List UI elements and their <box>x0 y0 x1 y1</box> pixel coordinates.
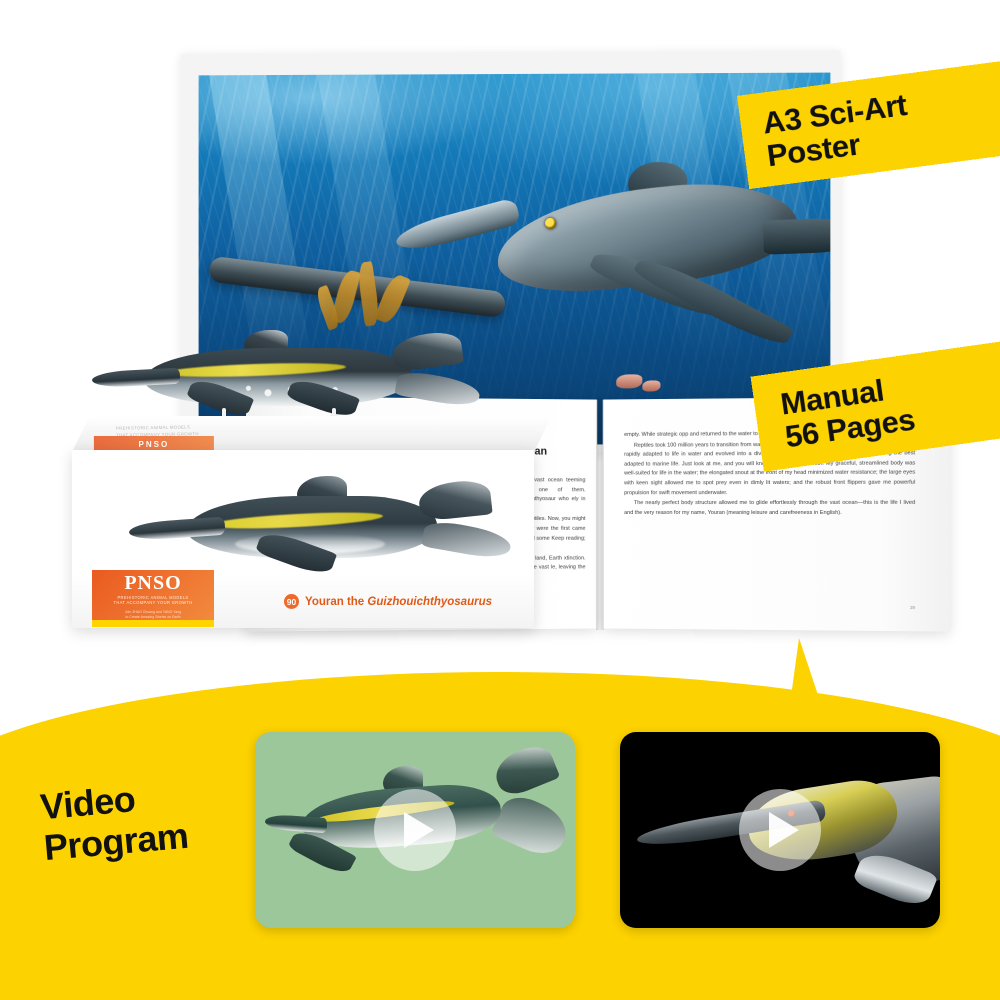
pnso-logo: PNSO PREHISTORIC ANIMAL MODELS THAT ACCO… <box>92 570 214 622</box>
product-name-prefix: Youran the <box>305 596 367 608</box>
product-species-name: Guizhouichthyosaurus <box>367 596 492 608</box>
pnso-tagline-line4: to Create Amazing Stories on Earth <box>125 615 180 619</box>
banner-video-program: Video Program <box>39 774 190 869</box>
manual-page-number: 39 <box>624 603 915 610</box>
pnso-tagline-primary: PREHISTORIC ANIMAL MODELS THAT ACCOMPANY… <box>113 595 192 606</box>
play-icon[interactable] <box>374 789 456 871</box>
box-model-illustration <box>127 474 527 584</box>
video-thumbnail-2[interactable] <box>620 732 940 928</box>
fish <box>616 374 642 388</box>
thumb1-tail-lower <box>490 790 573 862</box>
pnso-wordmark: PNSO <box>124 573 181 593</box>
play-triangle-icon <box>404 812 434 848</box>
fish <box>642 380 660 391</box>
box-front-panel: PNSO PREHISTORIC ANIMAL MODELS THAT ACCO… <box>72 450 534 628</box>
thumb1-tail-upper <box>490 740 561 800</box>
play-triangle-icon <box>769 812 799 848</box>
product-number-badge: 90 <box>284 594 299 609</box>
pnso-tagline-secondary: Join ZHAO Chuang and YANG Yang to Create… <box>125 610 181 619</box>
product-marketing-image: Free Life in the Ocean sic period, Guizh… <box>0 0 1000 1000</box>
box-model-tail-upper-lobe <box>417 478 492 521</box>
model-tail-upper-lobe <box>390 329 464 372</box>
product-box: PREHISTORIC ANIMAL MODELS THAT ACCOMPANY… <box>72 416 534 628</box>
manual-spine <box>596 398 604 630</box>
manual-paragraph: The nearly perfect body structure allowe… <box>624 499 915 518</box>
box-top-panel: PREHISTORIC ANIMAL MODELS THAT ACCOMPANY… <box>72 416 552 452</box>
pnso-tagline-line3: Join ZHAO Chuang and YANG Yang <box>125 610 181 614</box>
product-name: Youran the Guizhouichthyosaurus <box>305 596 492 608</box>
thumb1-snout <box>265 814 328 833</box>
box-model-tail-lower-lobe <box>421 519 513 562</box>
product-name-line: 90 Youran the Guizhouichthyosaurus <box>284 594 492 609</box>
pnso-tagline-line2: THAT ACCOMPANY YOUR GROWTH <box>113 600 192 605</box>
video-thumbnail-1[interactable] <box>255 732 575 928</box>
ichthyosaur-eye <box>545 218 556 229</box>
logo-yellow-bar <box>92 620 214 627</box>
pnso-tagline-line1: PREHISTORIC ANIMAL MODELS <box>117 595 188 600</box>
ichthyosaur-tail <box>763 217 830 255</box>
model-tail-lower-lobe <box>394 369 481 409</box>
play-icon[interactable] <box>739 789 821 871</box>
